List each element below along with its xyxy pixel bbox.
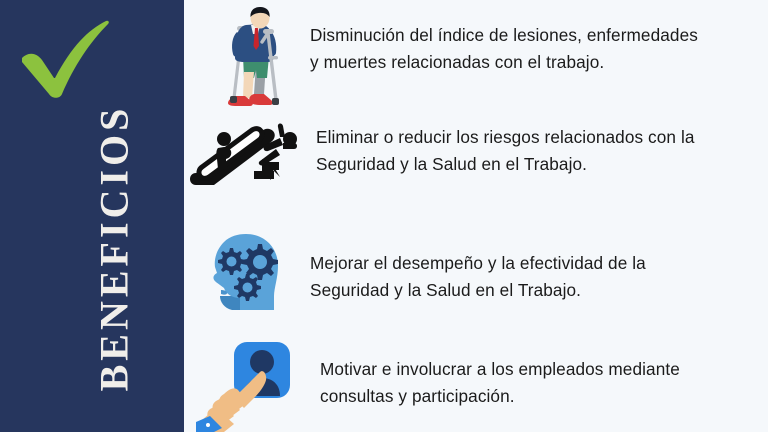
benefit-text: Mejorar el desempeño y la efectividad de…	[310, 222, 768, 303]
benefit-line: consultas y participación.	[320, 383, 768, 410]
list-item: Motivar e involucrar a los empleados med…	[184, 334, 768, 432]
benefit-text: Motivar e involucrar a los empleados med…	[310, 334, 768, 409]
benefit-line: Seguridad y la Salud en el Trabajo.	[316, 151, 768, 178]
head-with-gears-icon	[184, 222, 310, 332]
page-title: BENEFICIOS	[91, 105, 138, 392]
benefit-text: Eliminar o reducir los riesgos relaciona…	[310, 112, 768, 177]
list-item: Eliminar o reducir los riesgos relaciona…	[184, 112, 768, 212]
benefit-line: y muertes relacionadas con el trabajo.	[310, 49, 768, 76]
benefit-line: Mejorar el desempeño y la efectividad de…	[310, 250, 768, 277]
benefits-list: Disminución del índice de lesiones, enfe…	[184, 0, 768, 432]
injured-person-with-crutches-icon	[184, 4, 310, 112]
benefit-line: Motivar e involucrar a los empleados med…	[320, 356, 768, 383]
benefit-line: Eliminar o reducir los riesgos relaciona…	[316, 124, 768, 151]
list-item: Disminución del índice de lesiones, enfe…	[184, 4, 768, 112]
benefit-line: Disminución del índice de lesiones, enfe…	[310, 22, 768, 49]
benefit-text: Disminución del índice de lesiones, enfe…	[310, 4, 768, 75]
sidebar-panel: BENEFICIOS	[0, 0, 184, 432]
escalator-fall-hazard-icon	[184, 112, 310, 212]
vertical-title: BENEFICIOS	[0, 0, 184, 432]
benefit-line: Seguridad y la Salud en el Trabajo.	[310, 277, 768, 304]
hand-tapping-user-profile-icon	[184, 334, 310, 432]
benefits-slide: BENEFICIOS	[0, 0, 768, 432]
list-item: Mejorar el desempeño y la efectividad de…	[184, 222, 768, 332]
